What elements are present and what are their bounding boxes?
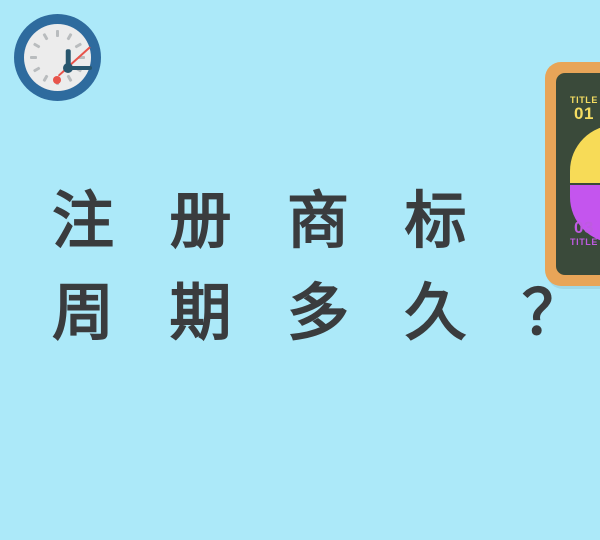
clock-face [24, 24, 91, 91]
clock-tick-2 [75, 42, 83, 48]
clock-tick-7 [42, 75, 48, 83]
clock-tick-11 [42, 33, 48, 41]
clock-second-hand-dot [53, 76, 61, 84]
clock-tick-1 [66, 33, 72, 41]
headline-line-2: 周 期 多 久 ？ [52, 268, 522, 360]
promo-card-bottom-number: 03 [545, 218, 600, 238]
clock-tick-10 [33, 42, 41, 48]
clock-tick-8 [33, 66, 41, 72]
clock-tick-9 [30, 56, 37, 59]
headline-line-1: 注 册 商 标 [52, 176, 522, 268]
promo-card[interactable]: TITLE 01 03 TITLE [545, 62, 600, 286]
clock-icon [14, 14, 101, 101]
headline-block: 注 册 商 标 周 期 多 久 ？ [52, 176, 522, 360]
poster-canvas: 注 册 商 标 周 期 多 久 ？ TITLE 01 03 TITLE [0, 0, 600, 540]
clock-center-pin [63, 63, 73, 73]
clock-tick-12 [56, 30, 59, 37]
promo-card-top-number: 01 [545, 104, 600, 124]
promo-card-bottom-title: TITLE [545, 237, 600, 247]
clock-tick-5 [66, 75, 72, 83]
promo-card-top-shape [570, 125, 600, 183]
